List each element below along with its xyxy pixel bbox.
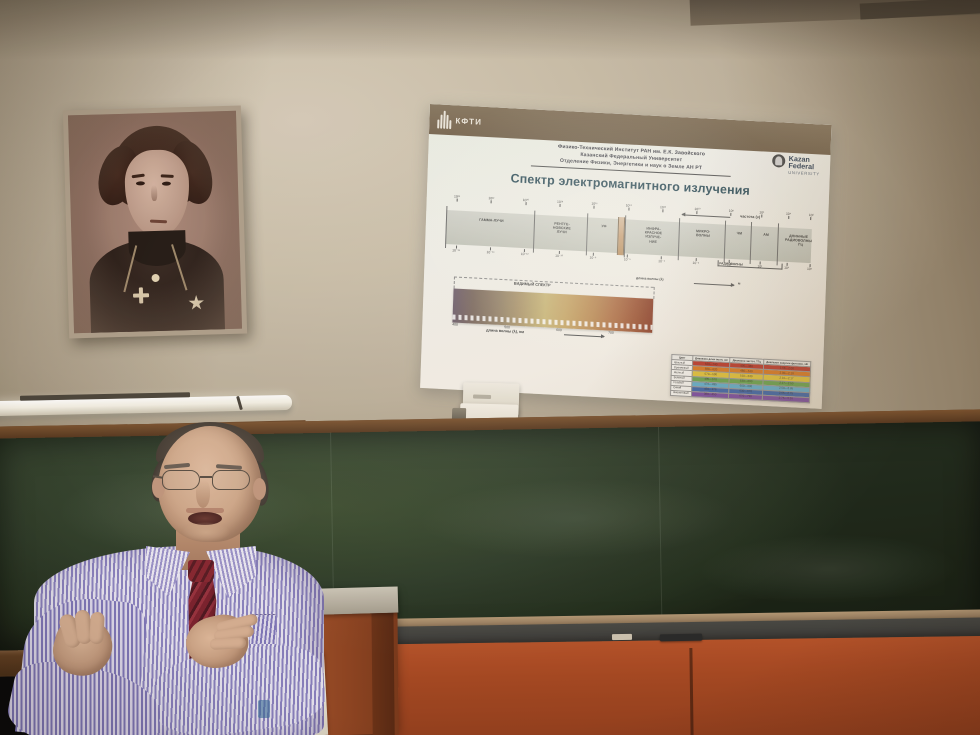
lecturer-left-finger [89, 612, 105, 645]
visible-tick-label: 700 [608, 330, 614, 334]
color-table-cell: 2.75—3.26 [762, 395, 809, 403]
necktie-knot [188, 560, 214, 582]
eyeglass-bridge [200, 476, 212, 478]
wavelength-tick: 10⁴ [784, 262, 789, 269]
desk-object-dark [660, 634, 702, 642]
frequency-tick: 10¹² [660, 205, 666, 212]
visible-axis-arrow [564, 334, 604, 337]
spectrum-diagram: 10²⁴10²²10²⁰10¹⁸10¹⁶10¹⁴10¹²10¹⁰10⁸10⁶10… [437, 193, 821, 279]
visible-spectrum-label: ВИДИМЫЙ СПЕКТР [514, 281, 551, 287]
wavelength-tick: 10⁻¹⁰ [555, 250, 563, 257]
wavelength-tick: 10⁻¹² [521, 248, 529, 255]
projection-screen: КФТИ Kazan Federal UNIVERSITY Физико-Тех… [420, 104, 831, 409]
lecturer-nose [196, 480, 210, 508]
slide-body: Kazan Federal UNIVERSITY Физико-Техничес… [432, 135, 822, 405]
eyeglass-lens-left [162, 470, 200, 490]
wall-portrait [63, 106, 247, 339]
frequency-tick: 10¹⁴ [626, 203, 632, 210]
wavelength-tick: 10⁻¹⁴ [486, 247, 494, 254]
wavelength-tick: 10⁻⁸ [589, 252, 596, 259]
visible-spectrum-panel: ВИДИМЫЙ СПЕКТР 400500600700 длина волны … [434, 273, 818, 351]
color-table-cell: 380—450 [691, 391, 729, 398]
frequency-tick: 10¹⁰ [694, 207, 700, 214]
color-table: ЦветДиапазон длин волн, нмДиапазон часто… [670, 354, 811, 403]
frequency-tick: 10² [809, 213, 814, 220]
visible-axis-label: длина волны (λ), нм [486, 328, 524, 334]
kfu-wordmark: Kazan Federal UNIVERSITY [788, 155, 820, 177]
visible-callout-left [454, 276, 455, 288]
frequency-tick: 10⁸ [729, 208, 734, 215]
lectern-side-edge [371, 596, 394, 735]
color-table-body: Красный620—740405—4801.68—2.00Оранжевый5… [670, 360, 810, 403]
visible-tick-label: 400 [452, 322, 458, 326]
frequency-tick: 10⁴ [786, 211, 791, 218]
spectrum-band-label: ИНФРА-КРАСНОЕИЗЛУЧЕ-НИЕ [628, 225, 678, 245]
kfti-logo: КФТИ [429, 110, 482, 131]
wavelength-axis-arrow [694, 283, 734, 286]
wavelength-tick: 10⁻⁴ [658, 256, 665, 263]
frequency-axis-unit: Гц [798, 242, 803, 246]
kfti-mark-icon [437, 110, 452, 129]
blackboard-smudge [698, 532, 959, 607]
wavelength-axis-unit: м [738, 281, 741, 285]
eyeglasses-icon [160, 470, 260, 492]
frequency-tick: 10²⁰ [523, 198, 529, 205]
frequency-tick: 10¹⁶ [591, 201, 597, 208]
color-table-cell: Фиолетовый [670, 390, 691, 396]
wavelength-tick: 10⁻² [692, 257, 699, 264]
frequency-arrow [683, 214, 731, 218]
wavelength-axis-label: длина волны (λ) [636, 276, 664, 281]
kazan-federal-logo: Kazan Federal UNIVERSITY [772, 154, 820, 176]
kfti-abbr: КФТИ [455, 116, 482, 126]
blackboard-smudge [417, 476, 738, 562]
color-table-cell: 670—790 [729, 393, 762, 400]
frequency-tick: 10²⁴ [454, 194, 460, 201]
spectrum-band-label: РЕНТГЕ-НОВСКИЕЛУЧИ [537, 220, 587, 236]
lecturer-right-finger [210, 637, 247, 650]
frequency-tick: 10¹⁸ [557, 199, 563, 206]
portrait-image [68, 111, 242, 334]
frequency-tick: 10²² [488, 196, 494, 203]
frequency-axis-label: частота (ν) [740, 214, 760, 219]
eyeglass-lens-right [212, 470, 250, 490]
portrait-vignette [68, 111, 242, 334]
visible-callout-top [454, 276, 654, 287]
desk-front-panel [391, 636, 980, 735]
kfu-seal-icon [772, 154, 785, 168]
visible-tick-label: 600 [556, 327, 562, 331]
lecture-hall-photo: КФТИ Kazan Federal UNIVERSITY Физико-Тех… [0, 0, 980, 735]
visible-callout-right [653, 286, 654, 298]
desk-object-light [612, 634, 632, 640]
lecturer-figure [0, 418, 350, 735]
visible-band-slot [616, 217, 624, 255]
wavelength-tick: 10⁻¹⁶ [452, 245, 460, 252]
wavelength-tick: 10⁶ [807, 263, 812, 270]
lecturer-chin [182, 522, 230, 542]
lanyard-badge [258, 700, 270, 718]
